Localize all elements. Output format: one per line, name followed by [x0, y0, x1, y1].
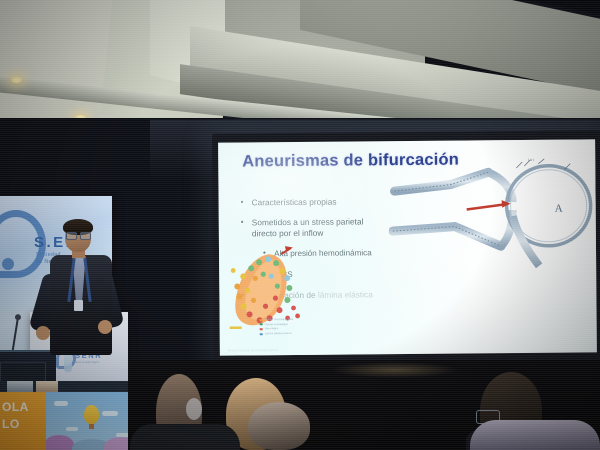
name-badge: [74, 300, 83, 311]
presentation-slide: Aneurismas de bifurcación Característica…: [218, 139, 597, 355]
ceiling-light-icon: [10, 76, 23, 84]
aneurysm-diagram: A l a t: [388, 153, 595, 351]
slide-footer: Aneurismas intracraneales: [228, 348, 278, 352]
eyeglasses-icon: [66, 232, 91, 238]
audience-shoulder: [470, 420, 600, 450]
speaker: [38, 222, 130, 382]
svg-text:l a t: l a t: [528, 158, 534, 162]
audience-head: [248, 402, 310, 450]
lanyard: [69, 258, 89, 302]
sen-logo-dot-icon: [2, 258, 14, 270]
figure-legend: Células musculares lisas Células endotel…: [260, 317, 356, 336]
projection-screen: Aneurismas de bifurcación Característica…: [212, 130, 600, 365]
conference-photo-scene: Aneurismas de bifurcación Característica…: [0, 0, 600, 450]
speaker-hand: [98, 320, 112, 334]
speaker-hand: [36, 326, 50, 340]
aneurysm-label: A: [555, 203, 563, 215]
